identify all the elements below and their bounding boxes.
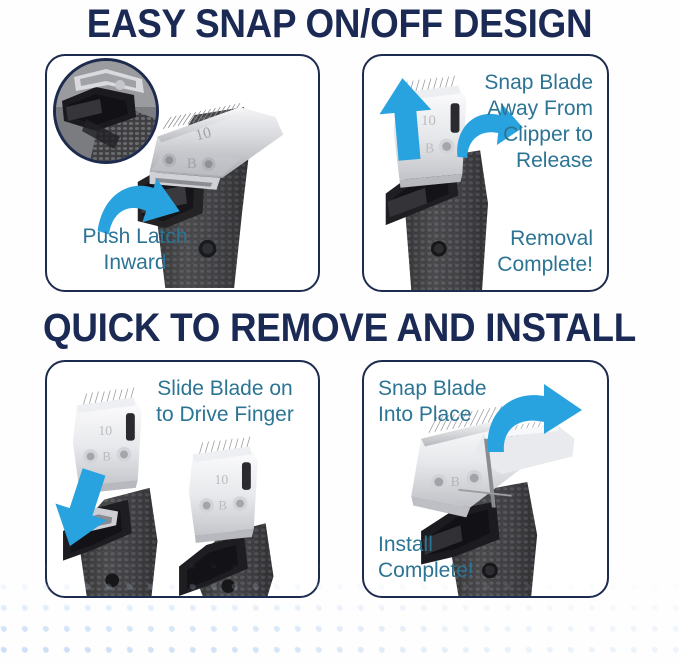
panel-top-right: 10 B Snap Blade Away From Clipper to Rel…: [362, 54, 609, 292]
arrow-down-left-icon: [51, 468, 113, 550]
page-title-top: EASY SNAP ON/OFF DESIGN: [27, 2, 652, 46]
svg-text:10: 10: [194, 124, 214, 144]
polka-dot-decoration: [0, 562, 679, 662]
svg-text:B: B: [451, 474, 460, 489]
svg-text:B: B: [218, 498, 227, 512]
caption-removal-complete: Removal Complete!: [413, 226, 593, 278]
page-title-middle: QUICK TO REMOVE AND INSTALL: [27, 306, 652, 350]
svg-text:10: 10: [214, 472, 228, 487]
magnified-latch-inset-circle: [53, 58, 159, 164]
panel-top-left: 10 B: [45, 54, 320, 292]
infographic-root: EASY SNAP ON/OFF DESIGN: [0, 0, 679, 662]
latch-detail-art: [56, 61, 156, 161]
caption-push-latch-inward: Push Latch Inward: [55, 224, 215, 276]
svg-text:10: 10: [98, 423, 112, 438]
svg-text:B: B: [187, 156, 197, 172]
caption-slide-blade-on-to-drive-finger: Slide Blade on to Drive Finger: [140, 376, 310, 428]
svg-text:B: B: [102, 449, 111, 463]
caption-snap-blade-away: Snap Blade Away From Clipper to Release: [413, 70, 593, 174]
caption-snap-blade-into-place: Snap Blade Into Place: [378, 376, 528, 428]
